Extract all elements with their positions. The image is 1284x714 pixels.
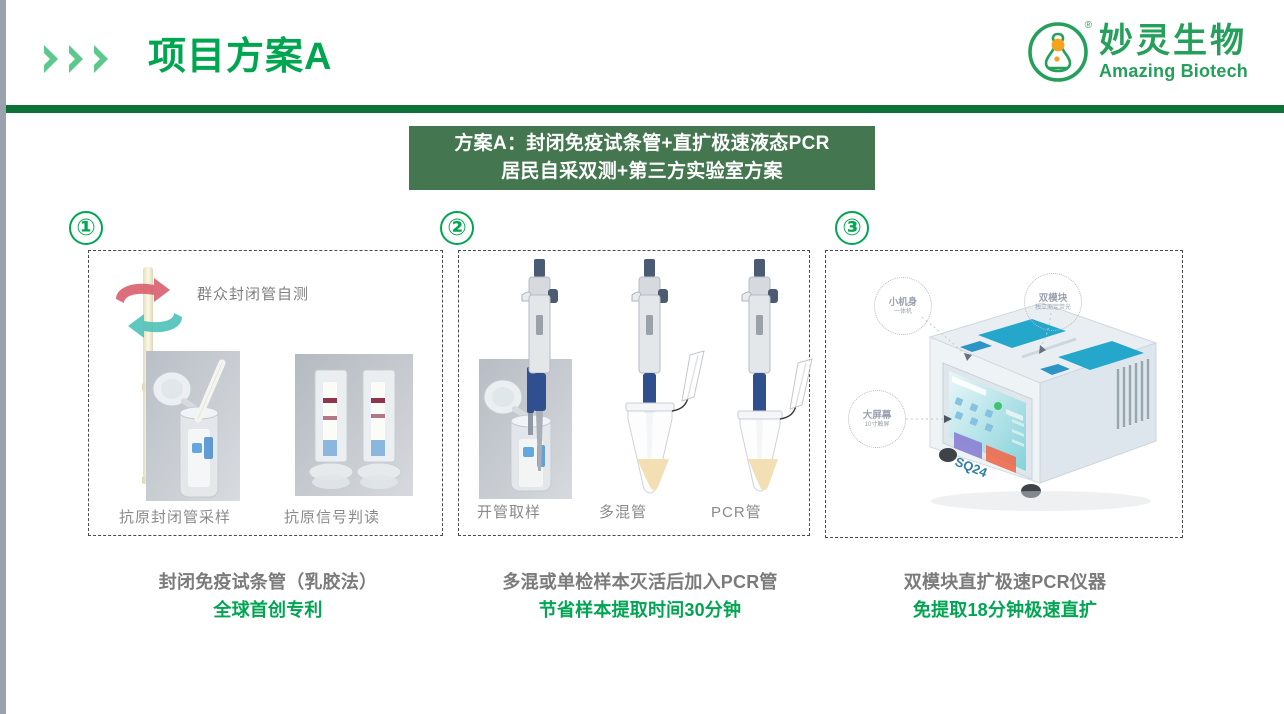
panel-1-title: 群众封闭管自测 (197, 283, 309, 304)
logo-text-block: 妙灵生物 Amazing Biotech (1099, 22, 1248, 82)
callout-3-title: 大屏幕 (863, 410, 892, 421)
step-number-3: ③ (835, 211, 869, 245)
page-title: 项目方案A (148, 32, 332, 82)
callout-2-title: 双模块 (1039, 293, 1068, 304)
footer-caption-2: 多混或单检样本灭活后加入PCR管 节省样本提取时间30分钟 (450, 568, 830, 624)
callout-compact-body: 小机身 一体机 (874, 277, 932, 335)
step-number-1: ① (69, 211, 103, 245)
pipette-over-sample-tube-icon (514, 259, 564, 504)
step-number-2: ② (440, 211, 474, 245)
panel-2-caption-2: 多混管 (599, 501, 647, 522)
banner-line-1: 方案A：封闭免疫试条管+直扩极速液态PCR (454, 130, 829, 158)
chevron-1-icon (42, 44, 64, 74)
step-panel-1: 群众封闭管自测 (88, 250, 443, 536)
footer-2-main: 多混或单检样本灭活后加入PCR管 (450, 568, 830, 596)
header-divider-bar (6, 105, 1284, 113)
rotate-arrows-icon (110, 273, 188, 345)
banner-line-2: 居民自采双测+第三方实验室方案 (501, 158, 783, 186)
footer-3-highlight: 免提取18分钟极速直扩 (830, 596, 1180, 624)
pipette-multimix-tube-icon (624, 259, 710, 508)
footer-caption-3: 双模块直扩极速PCR仪器 免提取18分钟极速直扩 (830, 568, 1180, 624)
slide-header: 项目方案A ® 妙灵生物 Amazing Biotech (6, 0, 1284, 105)
triple-chevron-right-icon (42, 42, 122, 76)
registered-trademark-icon: ® (1085, 21, 1092, 31)
panel-1-caption-2: 抗原信号判读 (284, 506, 380, 527)
logo-name-en: Amazing Biotech (1099, 60, 1248, 82)
footer-1-highlight: 全球首创专利 (88, 596, 448, 624)
panel-1-caption-1: 抗原封闭管采样 (119, 506, 231, 527)
flask-circle-logo-icon: ® (1027, 21, 1089, 83)
panel-2-caption-1: 开管取样 (477, 501, 541, 522)
antigen-tube-sampling-photo (146, 351, 240, 501)
step-panel-3: SQ24 小机身 一体机 (825, 250, 1183, 538)
footer-2-highlight: 节省样本提取时间30分钟 (450, 596, 830, 624)
callout-1-title: 小机身 (889, 297, 918, 308)
logo-name-cn: 妙灵生物 (1099, 22, 1248, 60)
slide-root: 项目方案A ® 妙灵生物 Amazing Biotech 方案A：封闭免疫试条管… (0, 0, 1284, 714)
company-logo: ® 妙灵生物 Amazing Biotech (1027, 16, 1248, 88)
callout-3-sub: 10寸触屏 (865, 421, 890, 429)
antigen-signal-reading-photo (295, 354, 413, 496)
scheme-banner: 方案A：封闭免疫试条管+直扩极速液态PCR 居民自采双测+第三方实验室方案 (409, 126, 875, 190)
callout-1-sub: 一体机 (894, 308, 912, 316)
footer-3-main: 双模块直扩极速PCR仪器 (830, 568, 1180, 596)
pipette-pcr-tube-icon (734, 259, 820, 508)
callout-large-screen: 大屏幕 10寸触屏 (848, 390, 906, 448)
footer-1-main: 封闭免疫试条管（乳胶法） (88, 568, 448, 596)
step-panel-2: 开管取样 多混管 PCR管 (458, 250, 810, 536)
callout-2-sub: 独立测定荧光 (1035, 304, 1071, 312)
panel-2-caption-3: PCR管 (711, 501, 762, 522)
callout-dual-module: 双模块 独立测定荧光 (1024, 273, 1082, 331)
chevron-2-icon (67, 44, 89, 74)
footer-caption-1: 封闭免疫试条管（乳胶法） 全球首创专利 (88, 568, 448, 624)
chevron-3-icon (92, 44, 114, 74)
